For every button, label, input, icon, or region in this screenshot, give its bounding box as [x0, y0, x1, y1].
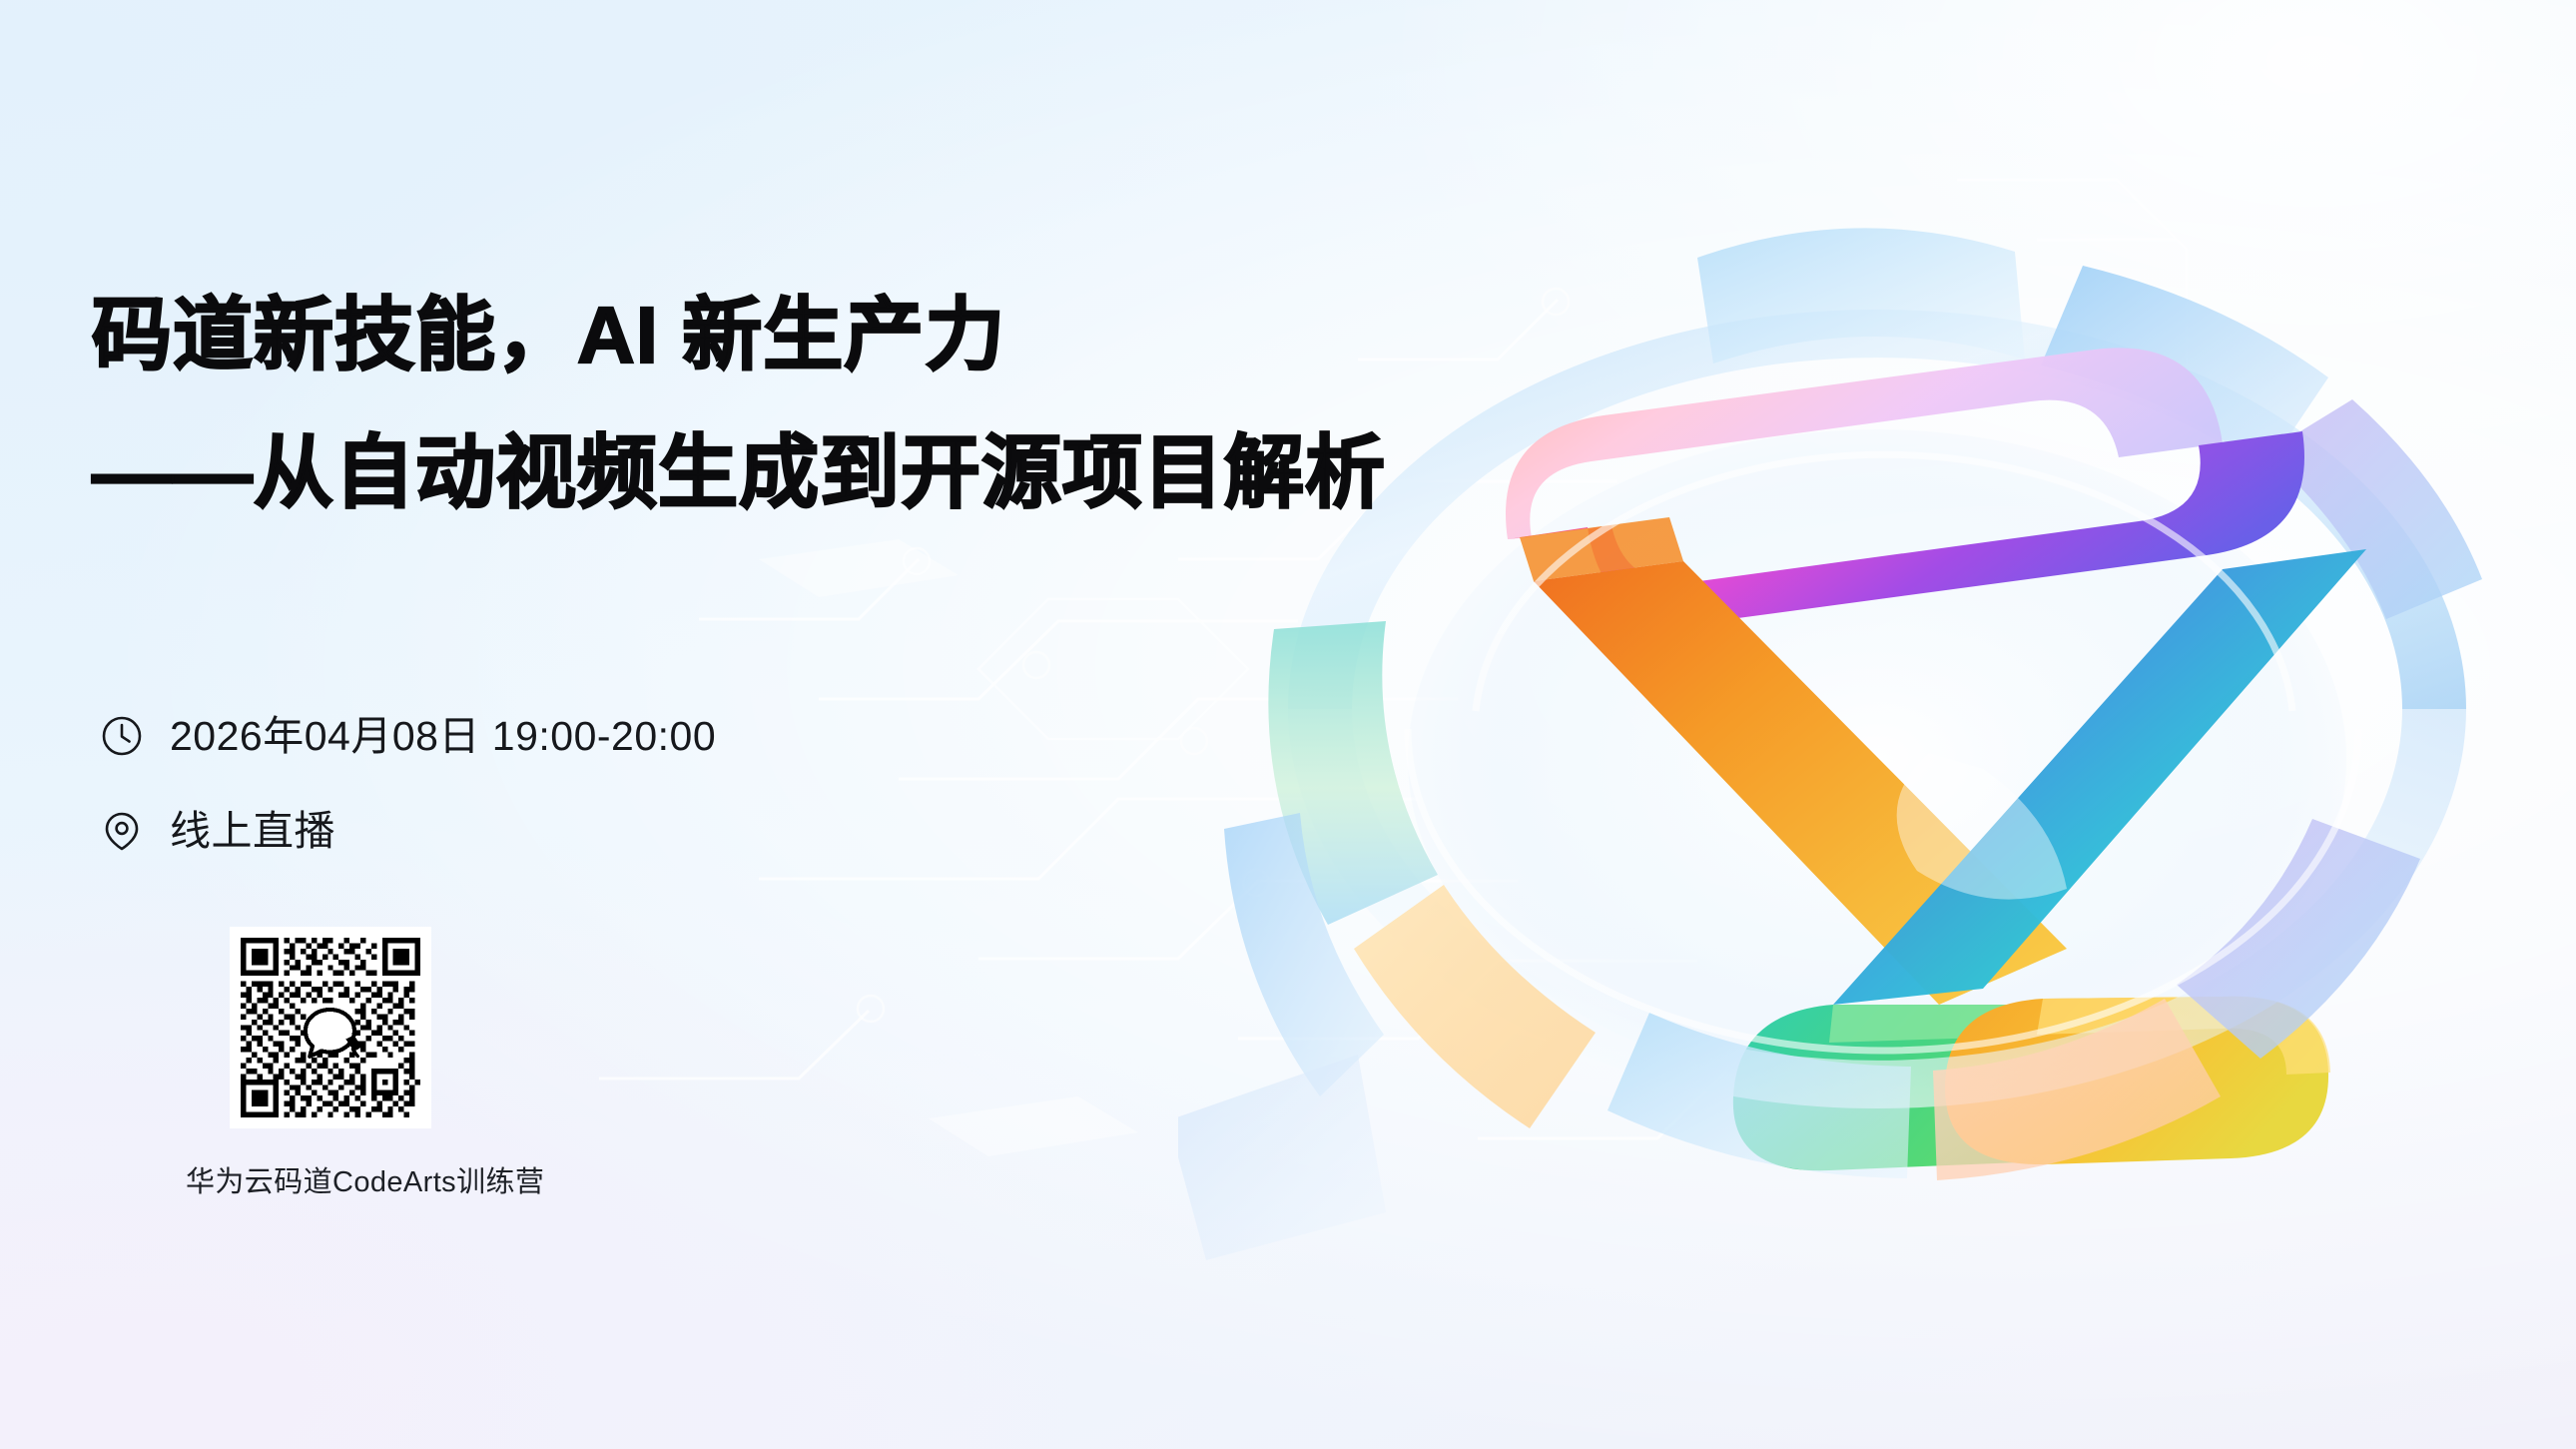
qr-code-block: 华为云码道CodeArts训练营 — [230, 927, 469, 1200]
location-pin-icon — [100, 809, 144, 853]
banner-content: 码道新技能，AI 新生产力 ——从自动视频生成到开源项目解析 2026年04月0… — [92, 0, 1490, 1449]
page-title-line-1: 码道新技能，AI 新生产力 — [92, 296, 1005, 375]
event-datetime-label: 2026年04月08日 19:00-20:00 — [170, 716, 716, 757]
qr-code-caption: 华为云码道CodeArts训练营 — [186, 1158, 469, 1200]
speech-bubble-megaphone-icon — [306, 1003, 362, 1056]
clock-icon — [100, 714, 144, 758]
qr-code-image[interactable] — [241, 938, 420, 1117]
promo-banner: 码道新技能，AI 新生产力 ——从自动视频生成到开源项目解析 2026年04月0… — [0, 0, 2576, 1449]
qr-code-card[interactable] — [230, 927, 431, 1128]
page-title-line-2: ——从自动视频生成到开源项目解析 — [92, 433, 1386, 513]
event-location-row: 线上直播 — [100, 809, 335, 853]
event-datetime-row: 2026年04月08日 19:00-20:00 — [100, 714, 716, 758]
event-location-label: 线上直播 — [170, 811, 335, 852]
